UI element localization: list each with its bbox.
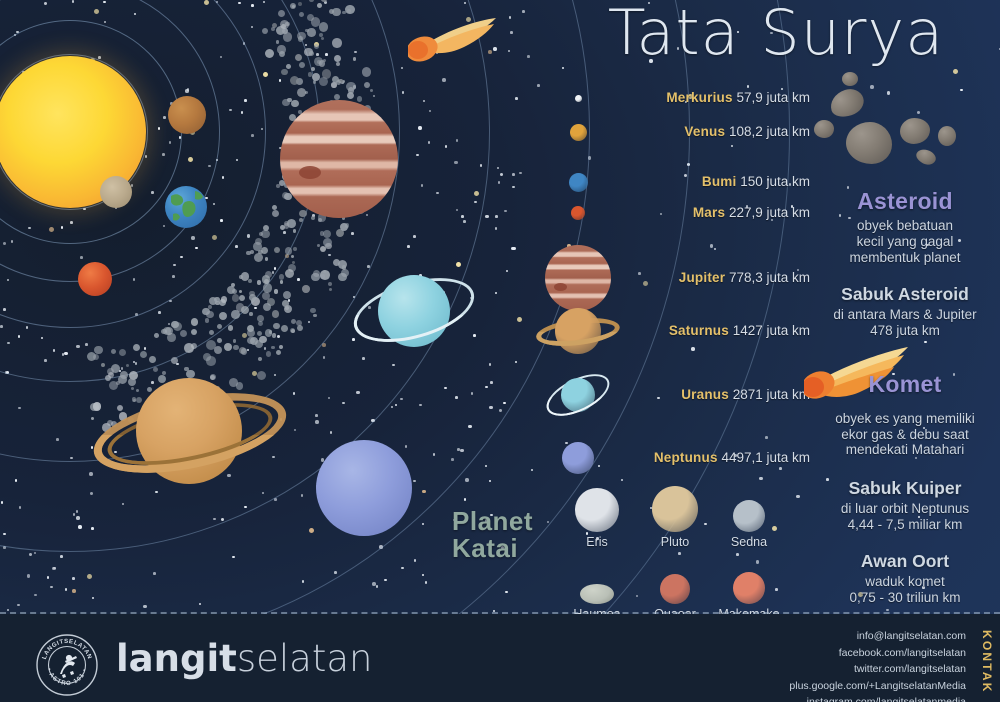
asteroid-belt-dot (293, 229, 296, 232)
asteroid-rock (814, 120, 834, 138)
planet-scale-label: Mars 227,9 juta km (693, 205, 810, 220)
planet-distance: 227,9 juta km (729, 205, 810, 220)
asteroid-belt-dot (314, 44, 319, 49)
asteroid-belt-dot (332, 8, 341, 17)
planet-name: Bumi (702, 174, 737, 189)
planet-scale-label: Merkurius 57,9 juta km (666, 90, 810, 105)
planet-scale-label: Bumi 150 juta km (702, 174, 810, 189)
asteroid-belt-dot (228, 325, 234, 331)
planet-scale-label: Saturnus 1427 juta km (669, 323, 810, 338)
svg-text:• ASTRO 101 •: • ASTRO 101 • (45, 667, 88, 687)
asteroid-belt-dot (248, 279, 252, 283)
asteroid-belt-dot (126, 364, 130, 368)
planet-distance: 2871 juta km (733, 387, 810, 402)
asteroid-belt-dot (281, 325, 288, 332)
comet-art-group: Komet (812, 359, 998, 411)
asteroid-belt-dot (317, 244, 320, 247)
asteroid-belt-dot (286, 64, 291, 69)
asteroid-belt-dot (265, 257, 269, 261)
asteroid-belt-dot (101, 363, 105, 367)
planet-name: Uranus (681, 387, 729, 402)
asteroid-belt-dot (273, 323, 279, 329)
asteroid-belt-dot (191, 329, 197, 335)
great-red-spot (554, 283, 567, 291)
planet-scale-list: Merkurius 57,9 juta kmVenus 108,2 juta k… (520, 80, 810, 500)
asteroid-belt-dot (271, 346, 275, 350)
dwarf-planet-disc (733, 500, 765, 532)
asteroid-belt-dot (336, 62, 340, 66)
asteroid-belt-dot (257, 331, 262, 336)
dwarf-planet-pluto: Pluto (638, 486, 712, 549)
asteroid-belt-dot (133, 344, 140, 351)
asteroid-belt-dot (265, 49, 274, 58)
asteroid-belt-dot (279, 345, 283, 349)
asteroid-belt-dot (309, 51, 314, 56)
asteroid-belt-dot (299, 210, 307, 218)
asteroid-belt-dot (217, 324, 223, 330)
planet-disc-bumi (569, 173, 588, 192)
dwarf-planet-name: Sedna (712, 535, 786, 549)
asteroid-belt-dot (206, 356, 216, 366)
planet-distance: 1427 juta km (733, 323, 810, 338)
asteroid-belt-dot (257, 280, 261, 284)
asteroid-belt-dot (297, 325, 303, 331)
planet-scale-label: Uranus 2871 juta km (681, 387, 810, 402)
asteroid-belt-dot (118, 375, 127, 384)
asteroid-belt-dot (283, 32, 293, 42)
asteroid-belt-dot (298, 2, 302, 6)
planet-disc-mars (571, 206, 585, 220)
asteroid-belt-dot (233, 345, 239, 351)
asteroid-belt-dot (232, 289, 237, 294)
asteroid-belt-dot (317, 3, 322, 8)
asteroid-belt-dot (111, 349, 116, 354)
planet-disc-neptunus (562, 442, 594, 474)
asteroid-belt-dot (329, 288, 332, 291)
planet-disc-jupiter (545, 245, 611, 311)
planet-distance: 4497,1 juta km (721, 450, 810, 465)
asteroid-belt-dot (285, 269, 294, 278)
asteroid-belt-dot (293, 247, 297, 251)
oort-cloud-heading: Awan Oort (812, 551, 998, 572)
neptune-body (316, 440, 412, 536)
asteroid-belt-dot (307, 28, 315, 36)
asteroid-belt-dot (338, 273, 347, 282)
asteroid-belt-dot (313, 314, 317, 318)
asteroid-belt-dot (321, 37, 324, 40)
asteroid-belt-dot (345, 223, 350, 228)
dwarf-planet-sedna: Sedna (712, 486, 786, 549)
kuiper-belt-heading: Sabuk Kuiper (812, 478, 998, 499)
asteroid-belt-dot (322, 69, 331, 78)
asteroid-belt-dot (158, 375, 166, 383)
planet-name: Saturnus (669, 323, 729, 338)
asteroid-belt-dot (274, 247, 280, 253)
asteroid-belt-dot (310, 308, 316, 314)
asteroid-belt-dot (334, 94, 340, 100)
dwarf-planet-name: Pluto (638, 535, 712, 549)
asteroid-belt-dot (276, 40, 279, 43)
asteroid-belt-dot (255, 238, 262, 245)
asteroid-belt-dot (119, 349, 127, 357)
great-red-spot (299, 166, 321, 179)
asteroid-belt-dot (239, 290, 242, 293)
dwarf-planet-disc (580, 584, 614, 604)
asteroid-belt-dot (332, 38, 342, 48)
asteroid-belt-dot (334, 55, 341, 62)
asteroid-belt-dot (272, 210, 280, 218)
asteroid-belt-dot (295, 54, 302, 61)
asteroid-belt-dot (258, 357, 262, 361)
dwarf-planet-name: Eris (560, 535, 634, 549)
planet-scale-label: Venus 108,2 juta km (684, 124, 810, 139)
asteroid-belt-dot (94, 346, 103, 355)
dwarf-planet-eris: Eris (560, 486, 634, 549)
dwarf-planet-disc (575, 488, 619, 532)
asteroid-belt-dot (323, 230, 331, 238)
asteroid-belt-dot (217, 338, 222, 343)
asteroid-belt-dot (291, 100, 298, 107)
asteroid-belt-description: di antara Mars & Jupiter 478 juta km (812, 307, 998, 339)
page-title: Tata Surya (556, 0, 996, 69)
contact-list: info@langitselatan.com facebook.com/lang… (789, 628, 966, 702)
planet-scale-label: Jupiter 778,3 juta km (679, 270, 810, 285)
poster-canvas: Tata Surya Merkurius 57,9 juta kmVenus 1… (0, 0, 1000, 702)
asteroid-cluster-art (812, 92, 998, 188)
kontak-label: KONTAK (980, 630, 994, 694)
asteroid-belt-dot (282, 300, 289, 307)
asteroid-belt-dot (299, 218, 303, 222)
asteroid-belt-dot (277, 45, 286, 54)
asteroid-belt-dot (231, 283, 235, 287)
dwarf-planets-grid: ErisPlutoSednaHaumeaQuaoarMakemake (560, 486, 790, 606)
mercury-body (168, 96, 206, 134)
asteroid-belt-dot (184, 367, 188, 371)
mars-body (78, 262, 112, 296)
asteroid-belt-dot (323, 59, 326, 62)
planet-distance: 108,2 juta km (729, 124, 810, 139)
asteroid-belt-dot (276, 350, 281, 355)
asteroid-belt-dot (311, 216, 315, 220)
asteroid-belt-dot (263, 225, 270, 232)
planet-distance: 778,3 juta km (729, 270, 810, 285)
asteroid-belt-dot (272, 205, 277, 210)
oort-cloud-description: waduk komet 0,75 - 30 triliun km (812, 574, 998, 606)
asteroid-belt-dot (272, 333, 277, 338)
comet-diagram-icon (408, 14, 500, 66)
komet-heading: Komet (812, 371, 998, 398)
planet-distance: 57,9 juta km (736, 90, 810, 105)
asteroid-belt-dot (266, 351, 272, 357)
asteroid-description: obyek bebatuan kecil yang gagal membentu… (812, 218, 998, 266)
asteroid-belt-dot (342, 11, 345, 14)
dwarf-planet-disc (660, 574, 690, 604)
asteroid-belt-dot (221, 296, 227, 302)
langitselatan-seal-logo: LANGITSELATAN • ASTRO 101 • (36, 634, 98, 696)
asteroid-belt-dot (205, 318, 210, 323)
asteroid-belt-dot (191, 318, 199, 326)
asteroid-belt-dot (297, 32, 306, 41)
asteroid-belt-dot (357, 96, 363, 102)
asteroid-belt-dot (149, 356, 156, 363)
asteroid-belt-dot (364, 82, 370, 88)
asteroid-belt-dot (209, 330, 214, 335)
asteroid-belt-dot (249, 291, 254, 296)
asteroid-belt-dot (257, 315, 264, 322)
footer: LANGITSELATAN • ASTRO 101 • langitselata… (0, 614, 1000, 702)
dwarf-planet-disc (652, 486, 698, 532)
asteroid-belt-dot (262, 292, 270, 300)
asteroid-belt-dot (214, 346, 223, 355)
facts-column: Asteroid obyek bebatuan kecil yang gagal… (812, 92, 998, 606)
asteroid-belt-dot (163, 327, 171, 335)
asteroid-belt-dot (257, 371, 266, 380)
asteroid-belt-dot (224, 343, 233, 352)
asteroid-belt-dot (311, 273, 319, 281)
asteroid-belt-dot (302, 285, 310, 293)
asteroid-belt-dot (370, 89, 373, 92)
asteroid-heading: Asteroid (812, 188, 998, 215)
dwarf-title-line1: Planet (452, 508, 562, 535)
asteroid-belt-dot (272, 310, 280, 318)
asteroid-rock (842, 72, 858, 86)
asteroid-belt-dot (278, 10, 285, 17)
asteroid-belt-dot (241, 348, 248, 355)
asteroid-belt-dot (292, 261, 296, 265)
asteroid-belt-dot (262, 28, 269, 35)
asteroid-belt-dot (153, 367, 158, 372)
asteroid-belt-dot (202, 308, 210, 316)
asteroid-belt-dot (254, 253, 263, 262)
planet-name: Merkurius (666, 90, 732, 105)
asteroid-belt-dot (258, 250, 262, 254)
planet-scale-label: Neptunus 4497,1 juta km (654, 450, 810, 465)
asteroid-belt-dot (171, 357, 178, 364)
asteroid-belt-dot (328, 282, 332, 286)
contact-email[interactable]: info@langitselatan.com (789, 628, 966, 645)
asteroid-belt-dot (297, 88, 306, 97)
asteroid-belt-dot (284, 223, 290, 229)
asteroid-rock (914, 146, 938, 167)
asteroid-belt-dot (321, 0, 327, 2)
asteroid-belt-dot (93, 354, 99, 360)
asteroid-belt-dot (309, 0, 313, 2)
jupiter-body (280, 100, 398, 218)
asteroid-belt-dot (281, 69, 288, 76)
planet-distance: 150 juta km (740, 174, 810, 189)
asteroid-belt-dot (279, 274, 285, 280)
asteroid-belt-dot (311, 67, 315, 71)
asteroid-belt-dot (140, 351, 147, 358)
asteroid-belt-dot (247, 325, 254, 332)
asteroid-belt-dot (184, 343, 194, 353)
asteroid-belt-dot (250, 250, 255, 255)
asteroid-belt-dot (233, 339, 236, 342)
brand-light: selatan (237, 637, 373, 680)
asteroid-belt-dot (280, 280, 284, 284)
asteroid-belt-dot (362, 67, 371, 76)
asteroid-belt-dot (299, 12, 304, 17)
dwarf-title-line2: Katai (452, 535, 562, 562)
asteroid-belt-dot (239, 295, 245, 301)
contact-twitter[interactable]: twitter.com/langitselatan (789, 661, 966, 678)
contact-facebook[interactable]: facebook.com/langitselatan (789, 645, 966, 662)
kuiper-belt-description: di luar orbit Neptunus 4,44 - 7,5 miliar… (812, 501, 998, 533)
dwarf-planets-title: Planet Katai (452, 508, 562, 563)
asteroid-belt-dot (353, 57, 357, 61)
asteroid-belt-dot (241, 272, 249, 280)
asteroid-belt-dot (283, 291, 291, 299)
planet-name: Jupiter (679, 270, 725, 285)
planet-name: Mars (693, 205, 725, 220)
asteroid-rock (846, 122, 892, 164)
planet-name: Venus (684, 124, 725, 139)
asteroid-belt-dot (320, 274, 325, 279)
asteroid-belt-dot (311, 17, 320, 26)
asteroid-belt-dot (108, 372, 114, 378)
venus-body (100, 176, 132, 208)
contact-instagram[interactable]: instagram.com/langitselatanmedia (789, 694, 966, 702)
asteroid-belt-dot (249, 312, 253, 316)
asteroid-belt-dot (255, 340, 263, 348)
asteroid-belt-dot (282, 192, 289, 199)
brand-wordmark: langitselatan (116, 640, 372, 677)
planet-disc-merkurius (575, 95, 582, 102)
asteroid-belt-dot (312, 73, 320, 81)
asteroid-belt-dot (215, 301, 219, 305)
asteroid-belt-dot (290, 328, 296, 334)
asteroid-belt-dot (274, 289, 278, 293)
contact-googleplus[interactable]: plus.google.com/+LangitselatanMedia (789, 678, 966, 695)
asteroid-belt-dot (291, 255, 295, 259)
brand-bold: langit (116, 637, 237, 680)
planet-name: Neptunus (654, 450, 718, 465)
asteroid-belt-dot (285, 247, 292, 254)
planet-disc-venus (570, 124, 587, 141)
asteroid-rock (900, 118, 930, 144)
earth-body (165, 186, 207, 228)
asteroid-belt-heading: Sabuk Asteroid (812, 284, 998, 305)
asteroid-belt-dot (271, 27, 275, 31)
asteroid-belt-dot (180, 330, 187, 337)
asteroid-belt-dot (320, 246, 326, 252)
asteroid-belt-dot (154, 333, 159, 338)
komet-description: obyek es yang memiliki ekor gas & debu s… (812, 411, 998, 459)
asteroid-belt-dot (219, 312, 227, 320)
asteroid-belt-dot (319, 22, 328, 31)
asteroid-belt-dot (280, 20, 289, 29)
asteroid-belt-dot (299, 62, 305, 68)
dwarf-planet-disc (733, 572, 765, 604)
asteroid-rock (938, 126, 956, 146)
asteroid-belt-dot (263, 303, 272, 312)
